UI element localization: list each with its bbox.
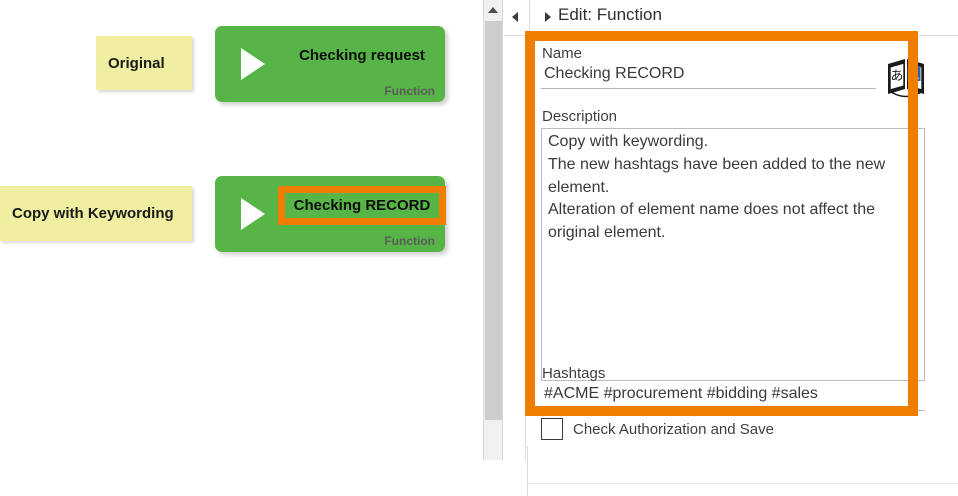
note-copy[interactable]: Copy with Keywording (0, 186, 192, 241)
task-node-kind: Function (384, 84, 435, 98)
edit-panel-header: Edit: Function (504, 0, 958, 36)
description-textarea[interactable]: Copy with keywording. The new hashtags h… (541, 128, 925, 381)
task-node-checking-request[interactable]: Checking request Function (215, 26, 445, 102)
description-label: Description (542, 108, 617, 125)
diagram-canvas[interactable]: Original Copy with Keywording Checking r… (0, 0, 481, 460)
task-node-title-text-highlighted: Checking RECORD (285, 193, 440, 218)
note-original[interactable]: Original (96, 36, 192, 90)
check-authorization-row[interactable]: Check Authorization and Save (541, 418, 774, 440)
hashtags-label: Hashtags (542, 365, 605, 382)
chevron-left-icon[interactable] (512, 12, 518, 22)
scroll-up-button[interactable] (484, 0, 502, 20)
svg-text:あ: あ (890, 69, 903, 84)
page-title: Edit: Function (558, 5, 662, 25)
header-divider (529, 0, 530, 36)
note-copy-label: Copy with Keywording (12, 205, 174, 222)
tab-new-elements[interactable]: New Elements (504, 36, 526, 460)
edit-function-form: Name Checking RECORD A あ Description Cop… (527, 36, 958, 460)
scrollbar-thumb[interactable] (485, 21, 502, 420)
chevron-up-icon (488, 7, 498, 13)
edit-panel: Edit: Function New Elements Name Checkin… (504, 0, 958, 460)
task-node-title: Checking RECORD (287, 176, 437, 234)
play-triangle-icon (241, 198, 265, 230)
name-input[interactable]: Checking RECORD (541, 65, 876, 89)
task-node-title-text: Checking request (299, 47, 425, 64)
svg-text:A: A (909, 66, 919, 82)
task-node-checking-record[interactable]: Checking RECORD Function (215, 176, 445, 252)
play-triangle-icon (241, 48, 265, 80)
task-node-title: Checking request (287, 26, 437, 84)
canvas-vertical-scrollbar[interactable] (483, 0, 503, 460)
hashtags-input[interactable]: #ACME #procurement #bidding #sales (541, 385, 925, 411)
chevron-right-icon[interactable] (545, 12, 551, 22)
note-original-label: Original (108, 55, 165, 72)
name-label: Name (542, 45, 582, 62)
check-authorization-label: Check Authorization and Save (573, 421, 774, 438)
form-bottom-divider (527, 483, 958, 484)
form-left-divider (527, 446, 528, 496)
translate-book-icon[interactable]: A あ (884, 56, 928, 102)
task-node-kind: Function (384, 234, 435, 248)
check-authorization-checkbox[interactable] (541, 418, 563, 440)
